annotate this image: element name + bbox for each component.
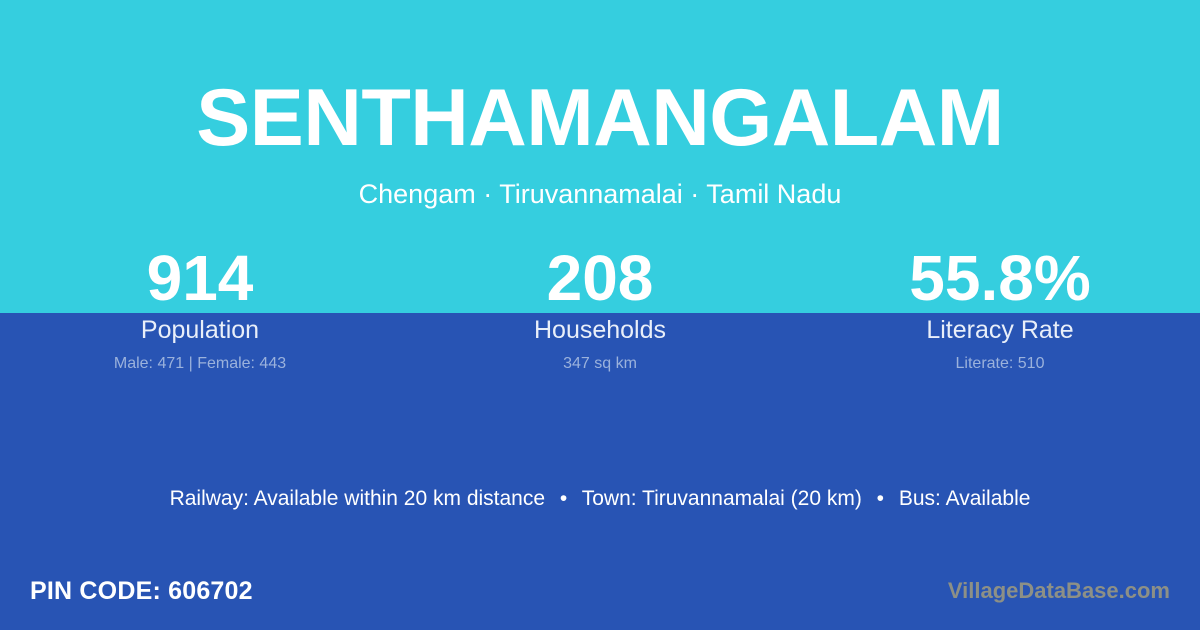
stat-label: Population bbox=[0, 315, 400, 345]
nearest-town-info: Town: Tiruvannamalai (20 km) bbox=[582, 487, 862, 510]
breadcrumb: Chengam · Tiruvannamalai · Tamil Nadu bbox=[0, 159, 1200, 208]
stat-households: 208 Households 347 sq km bbox=[400, 243, 800, 374]
stat-literacy-rate: 55.8% Literacy Rate Literate: 510 bbox=[800, 243, 1200, 374]
stat-label: Literacy Rate bbox=[800, 315, 1200, 345]
stat-value: 914 bbox=[0, 243, 400, 313]
stat-subtext: 347 sq km bbox=[400, 354, 800, 374]
stat-label: Households bbox=[400, 315, 800, 345]
stat-subtext: Male: 471 | Female: 443 bbox=[0, 354, 400, 374]
stat-population: 914 Population Male: 471 | Female: 443 bbox=[0, 243, 400, 374]
bullet-separator-icon: • bbox=[868, 485, 893, 513]
stat-subtext: Literate: 510 bbox=[800, 354, 1200, 374]
stat-value: 55.8% bbox=[800, 243, 1200, 313]
hero-section: SENTHAMANGALAM Chengam · Tiruvannamalai … bbox=[0, 0, 1200, 208]
transport-info-line: Railway: Available within 20 km distance… bbox=[0, 485, 1200, 513]
railway-info: Railway: Available within 20 km distance bbox=[170, 487, 545, 510]
stat-value: 208 bbox=[400, 243, 800, 313]
footer: PIN CODE: 606702 VillageDataBase.com bbox=[0, 552, 1200, 630]
village-info-card: SENTHAMANGALAM Chengam · Tiruvannamalai … bbox=[0, 0, 1200, 630]
site-brand: VillageDataBase.com bbox=[948, 578, 1170, 604]
page-title: SENTHAMANGALAM bbox=[0, 0, 1200, 159]
pin-code: PIN CODE: 606702 bbox=[30, 576, 253, 606]
bus-info: Bus: Available bbox=[899, 487, 1031, 510]
stats-row: 914 Population Male: 471 | Female: 443 2… bbox=[0, 243, 1200, 374]
bullet-separator-icon: • bbox=[551, 485, 576, 513]
